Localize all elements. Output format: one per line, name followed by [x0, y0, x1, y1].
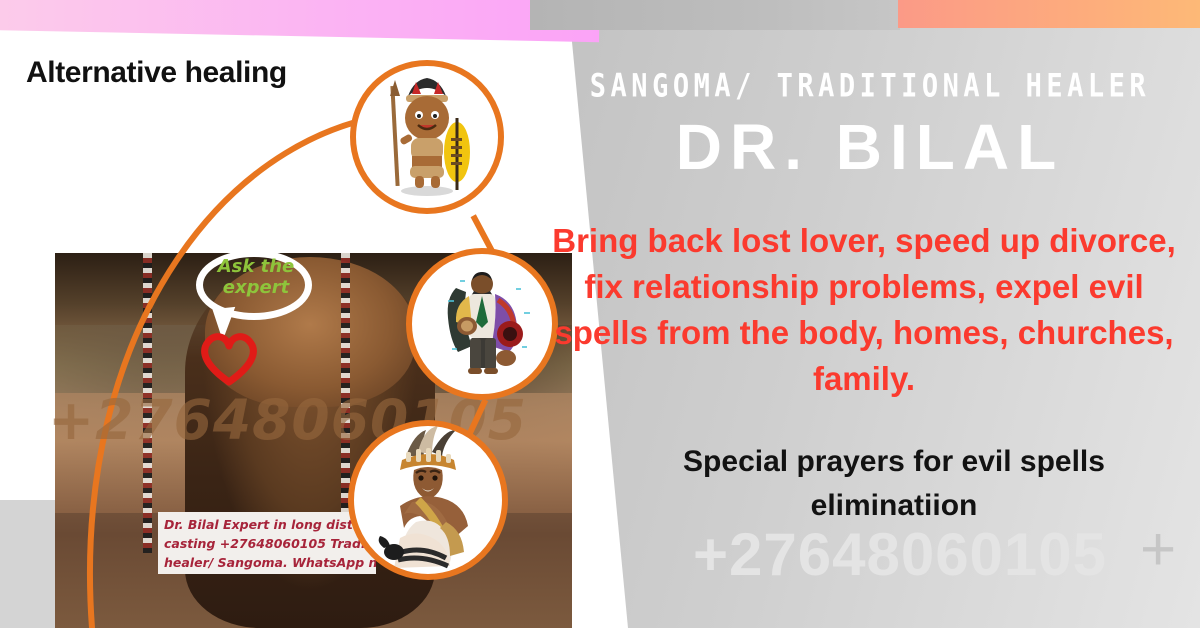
heart-icon: [198, 330, 260, 386]
crouching-sangoma-icon: [354, 426, 502, 574]
zulu-warrior-icon: [356, 66, 498, 208]
photo-caption-box: Dr. Bilal Expert in long distan casting …: [158, 512, 376, 574]
special-prayers-text: Special prayers for evil spells eliminat…: [600, 440, 1188, 528]
kicker-text: SANGOMA/ TRADITIONAL HEALER: [560, 68, 1180, 105]
healer-name: DR. BILAL: [560, 110, 1180, 184]
plus-decoration: +: [1140, 530, 1176, 570]
top-pink-bar: [0, 0, 600, 42]
circle-crouching-sangoma-illustration[interactable]: [348, 420, 508, 580]
caption-line-1: Dr. Bilal Expert in long distan: [164, 515, 370, 534]
speech-bubble-text: Ask the expert: [206, 256, 306, 298]
caption-line-2: casting +27648060105 Traditi: [164, 534, 370, 553]
services-text: Bring back lost lover, speed up divorce,…: [540, 218, 1188, 402]
poster-canvas: +27648060105: [0, 0, 1200, 628]
caption-line-3: healer/ Sangoma. WhatsApp n: [164, 553, 370, 572]
top-orange-bar: [898, 0, 1200, 28]
top-gray-bar: [530, 0, 900, 30]
circle-zulu-warrior-illustration[interactable]: [350, 60, 504, 214]
phone-watermark: +27648060105: [600, 520, 1200, 589]
cloaked-healer-icon: [412, 254, 552, 394]
circle-cloaked-healer-illustration[interactable]: [406, 248, 558, 400]
page-title: Alternative healing: [26, 56, 287, 90]
